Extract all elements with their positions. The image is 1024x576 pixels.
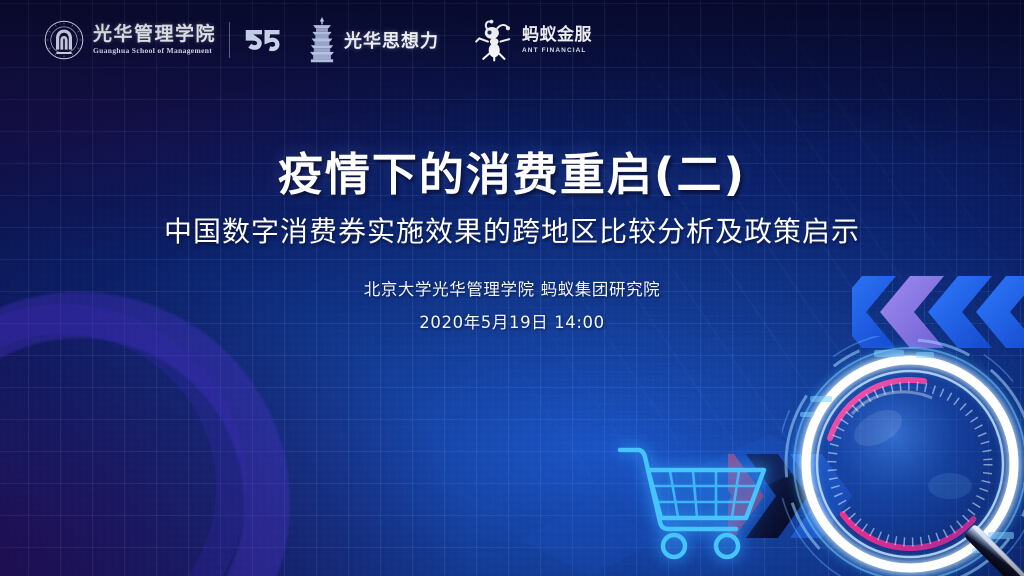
event-datetime: 2020年5月19日 14:00 xyxy=(0,309,1024,333)
page-subtitle: 中国数字消费券实施效果的跨地区比较分析及政策启示 xyxy=(0,210,1024,250)
page-title: 疫情下的消费重启(二) xyxy=(0,150,1024,200)
organizers: 北京大学光华管理学院 蚂蚁集团研究院 xyxy=(0,276,1024,300)
title-block: 疫情下的消费重启(二) 中国数字消费券实施效果的跨地区比较分析及政策启示 北京大… xyxy=(0,150,1024,333)
magnifying-glass-graphic xyxy=(782,336,1024,576)
slide-canvas: 光华管理学院 Guanghua School of Management xyxy=(0,0,1024,576)
shopping-cart-icon xyxy=(612,436,782,568)
